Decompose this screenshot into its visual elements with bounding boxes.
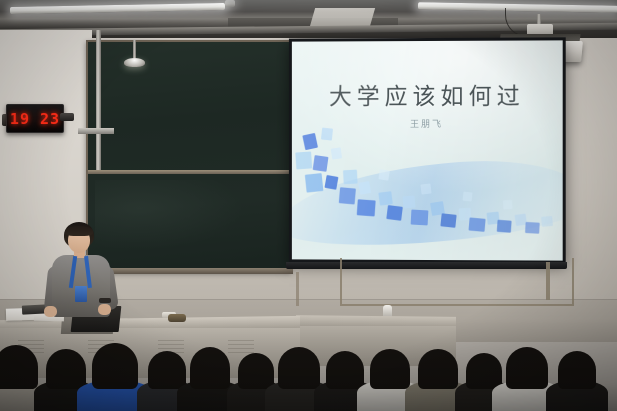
mosaic-square bbox=[305, 173, 324, 193]
fluorescent-tube-middle bbox=[225, 0, 235, 7]
hanging-lamp-rod bbox=[133, 40, 136, 60]
presenter-fringe bbox=[65, 226, 93, 236]
mosaic-square bbox=[378, 191, 392, 205]
wall-rail-post-left bbox=[296, 272, 299, 306]
audience-member-head bbox=[46, 349, 86, 389]
wall-bracket bbox=[78, 128, 114, 134]
mosaic-square bbox=[463, 192, 473, 202]
lecture-hall-photo: 19 23 EPSON 大学应该如何过 王朋飞 bbox=[0, 0, 617, 411]
audience-member-head bbox=[418, 349, 458, 389]
presenter-right-hand bbox=[98, 304, 111, 315]
mosaic-square bbox=[403, 195, 416, 208]
wall-rail-frame bbox=[340, 258, 574, 306]
audience-member-head bbox=[326, 351, 364, 389]
mosaic-square bbox=[469, 217, 486, 231]
mosaic-square bbox=[302, 133, 318, 150]
blackboard-middle-ledge bbox=[88, 170, 289, 174]
slide-mosaic-graphic bbox=[292, 126, 563, 247]
mosaic-square bbox=[358, 181, 371, 195]
mosaic-square bbox=[411, 210, 429, 226]
audience-member-head bbox=[558, 351, 596, 389]
audience-member-head bbox=[92, 343, 138, 389]
audience-member-head bbox=[0, 345, 38, 389]
mosaic-square bbox=[324, 175, 338, 190]
mosaic-square bbox=[525, 222, 540, 234]
clock-time-text: 19 23 bbox=[10, 110, 60, 128]
presenter-woman bbox=[40, 222, 130, 332]
mosaic-square bbox=[497, 220, 512, 233]
wall-digital-clock: 19 23 bbox=[6, 104, 64, 133]
mosaic-square bbox=[295, 151, 312, 169]
audience-member-head bbox=[190, 347, 230, 389]
audience-member-head bbox=[148, 351, 186, 389]
mosaic-square bbox=[541, 216, 553, 227]
mosaic-square bbox=[440, 213, 456, 228]
audience-member-head bbox=[238, 353, 274, 389]
audience-row bbox=[0, 319, 617, 411]
projection-screen-frame: 大学应该如何过 王朋飞 bbox=[289, 37, 566, 263]
support-pole bbox=[96, 30, 101, 170]
mosaic-square bbox=[343, 170, 358, 185]
mosaic-square bbox=[503, 200, 513, 210]
mosaic-square bbox=[339, 187, 356, 204]
audience-member-head bbox=[370, 349, 410, 389]
wall-rail-post bbox=[546, 262, 550, 300]
mosaic-square bbox=[420, 183, 431, 194]
audience-member-head bbox=[506, 347, 548, 389]
mosaic-square bbox=[331, 147, 342, 159]
wristwatch bbox=[99, 298, 111, 303]
slide-subtitle: 王朋飞 bbox=[292, 117, 563, 130]
mosaic-square bbox=[386, 205, 403, 221]
presenter-left-hand bbox=[44, 306, 57, 317]
clock-wall-mount bbox=[60, 113, 74, 121]
mosaic-square bbox=[357, 199, 376, 216]
audience-member-head bbox=[278, 347, 320, 389]
mosaic-square bbox=[378, 169, 389, 180]
projection-screen: 大学应该如何过 王朋飞 bbox=[292, 40, 563, 260]
slide-title: 大学应该如何过 bbox=[292, 77, 563, 112]
presentation-slide: 大学应该如何过 王朋飞 bbox=[292, 40, 563, 260]
mosaic-square bbox=[313, 155, 329, 172]
audience-member-head bbox=[466, 353, 502, 389]
hanging-lamp bbox=[124, 58, 145, 67]
id-badge bbox=[75, 286, 87, 302]
